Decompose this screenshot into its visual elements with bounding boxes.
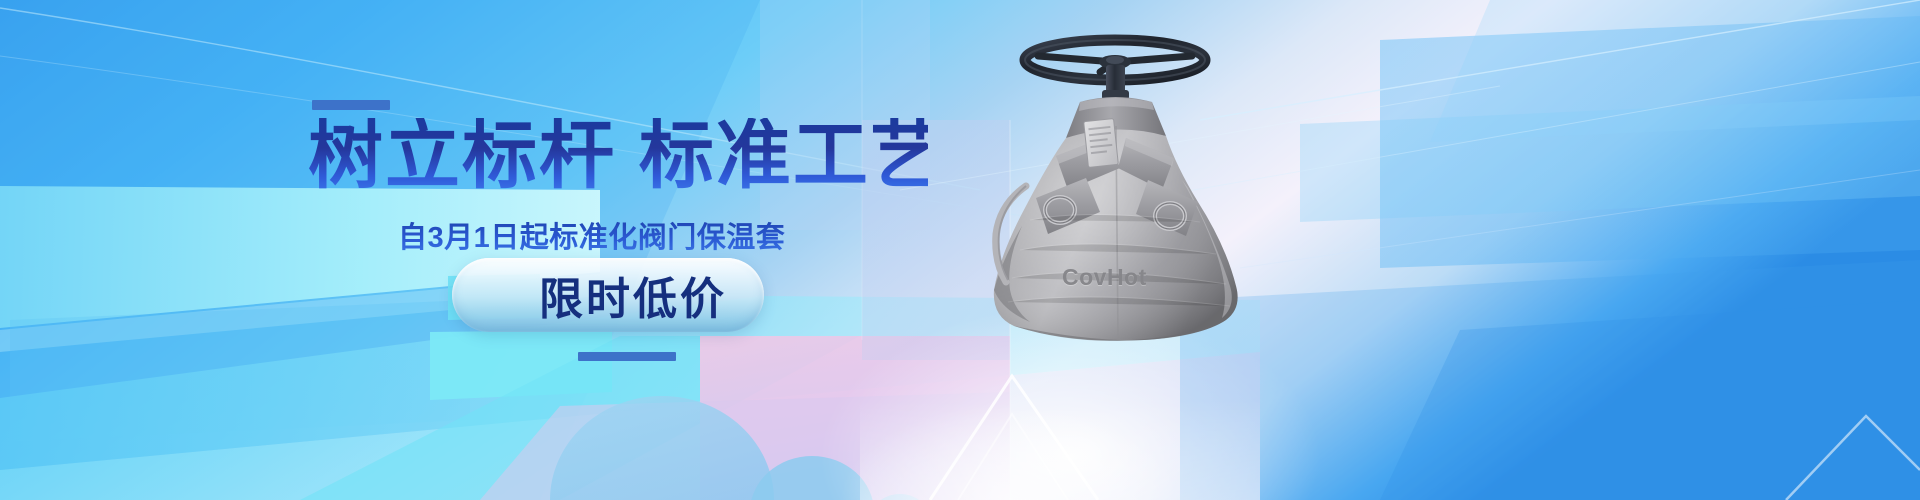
headline: 树立标杆 标准工艺 [308, 118, 928, 193]
promo-banner: 树立标杆 标准工艺 自3月1日起标准化阀门保温套 限时低价 [0, 0, 1920, 500]
cta-button[interactable]: 限时低价 [452, 258, 764, 332]
accent-bar-top [312, 100, 390, 110]
product-id-tag [1084, 119, 1119, 168]
subheadline: 自3月1日起标准化阀门保温套 [398, 214, 785, 256]
banner-content: 树立标杆 标准工艺 自3月1日起标准化阀门保温套 限时低价 [0, 0, 960, 500]
cta-button-label: 限时低价 [479, 263, 737, 327]
accent-bar-bottom [578, 352, 676, 361]
product-image-valve-insulation-jacket [930, 10, 1320, 360]
